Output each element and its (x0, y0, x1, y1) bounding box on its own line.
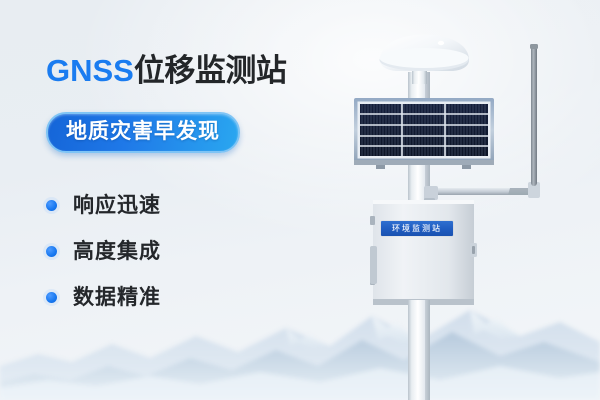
list-item: 响应迅速 (46, 182, 161, 228)
page-title: GNSS位移监测站 (46, 55, 286, 87)
feature-label: 高度集成 (73, 241, 161, 262)
list-item: 数据精准 (46, 274, 161, 320)
title-brand-text: GNSS (46, 53, 134, 88)
list-item: 高度集成 (46, 228, 161, 274)
status-badge: 地质灾害早发现 (46, 112, 240, 153)
bullet-dot-icon (46, 246, 57, 257)
bullet-dot-icon (46, 292, 57, 303)
title-rest-text: 位移监测站 (134, 53, 287, 89)
feature-label: 数据精准 (73, 287, 161, 308)
feature-list: 响应迅速 高度集成 数据精准 (46, 182, 161, 320)
marketing-text-block: GNSS位移监测站 地质灾害早发现 响应迅速 高度集成 数据精准 (0, 0, 330, 400)
enclosure-label-text: 环境监测站 (392, 225, 442, 233)
bullet-dot-icon (46, 200, 57, 211)
feature-label: 响应迅速 (73, 195, 161, 216)
status-badge-label: 地质灾害早发现 (66, 119, 220, 143)
gnss-monitoring-station-device (330, 0, 600, 400)
product-banner: 环境监测站 GNSS位移监测站 地质灾害早发现 响应迅速 高度集成 数据精准 (0, 0, 600, 400)
enclosure-label-plate: 环境监测站 (381, 221, 453, 236)
